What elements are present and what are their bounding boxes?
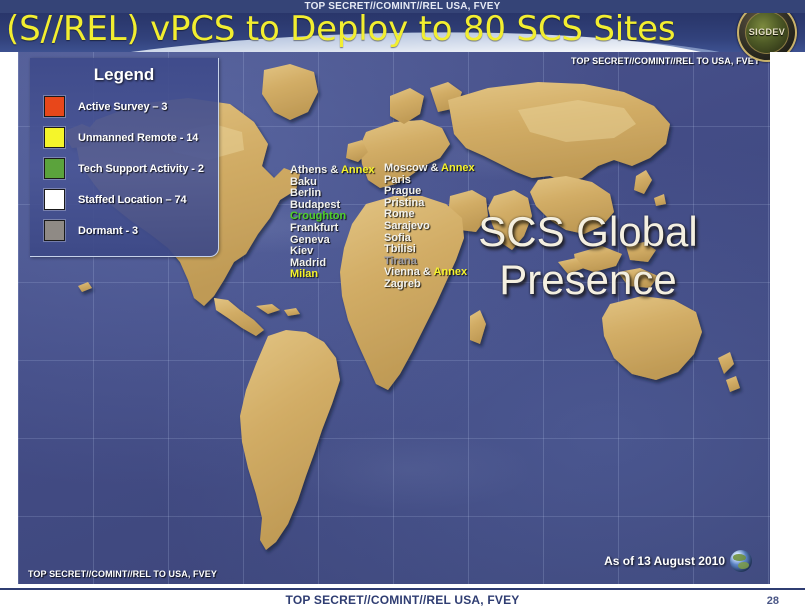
legend-swatch — [44, 220, 65, 241]
legend-swatch — [44, 158, 65, 179]
legend-item-label: Unmanned Remote - 14 — [78, 132, 198, 144]
city-entry: Athens & Annex — [290, 165, 375, 177]
city-annex-label: Annex — [341, 164, 375, 176]
legend-item: Unmanned Remote - 14 — [30, 122, 218, 153]
map-center-title-line2: Presence — [438, 256, 738, 304]
city-entry: Moscow & Annex — [384, 163, 475, 175]
footer-classification: TOP SECRET//COMINT//REL USA, FVEY — [0, 593, 805, 607]
as-of-text: As of 13 August 2010 — [604, 554, 725, 568]
footer-divider — [0, 588, 805, 590]
world-map: TOP SECRET//COMINT//REL TO USA, FVEY TOP… — [18, 48, 770, 588]
legend-item-label: Tech Support Activity - 2 — [78, 163, 204, 175]
legend-item-label: Active Survey – 3 — [78, 101, 167, 113]
slide: TOP SECRET//COMINT//REL USA, FVEY (S//RE… — [0, 0, 805, 614]
legend-swatch — [44, 127, 65, 148]
legend-item-list: Active Survey – 3Unmanned Remote - 14Tec… — [30, 91, 218, 246]
legend-panel: Legend Active Survey – 3Unmanned Remote … — [30, 58, 219, 257]
map-center-title-line1: SCS Global — [478, 208, 697, 255]
page-title: (S//REL) vPCS to Deploy to 80 SCS Sites — [6, 9, 675, 49]
legend-item-label: Staffed Location – 74 — [78, 194, 187, 206]
city-annex-label: Annex — [441, 162, 475, 174]
globe-icon — [730, 550, 752, 572]
page-number: 28 — [767, 595, 779, 607]
legend-item: Active Survey – 3 — [30, 91, 218, 122]
as-of-stamp: As of 13 August 2010 — [604, 550, 752, 572]
right-margin — [770, 52, 805, 588]
top-classification-banner: TOP SECRET//COMINT//REL USA, FVEY — [0, 0, 805, 13]
legend-item: Tech Support Activity - 2 — [30, 153, 218, 184]
legend-item: Dormant - 3 — [30, 215, 218, 246]
legend-title: Legend — [30, 65, 218, 85]
city-entry: Kiev — [290, 246, 375, 258]
map-center-title: SCS Global Presence — [438, 208, 738, 304]
city-entry: Milan — [290, 269, 375, 281]
city-list-left: Athens & AnnexBakuBerlinBudapestCroughto… — [290, 165, 375, 281]
legend-item: Staffed Location – 74 — [30, 184, 218, 215]
map-classification-bottom-left: TOP SECRET//COMINT//REL TO USA, FVEY — [28, 569, 217, 579]
seal-label: SIGDEV — [739, 27, 795, 37]
legend-swatch — [44, 189, 65, 210]
left-margin — [0, 52, 18, 588]
city-entry: Frankfurt — [290, 223, 375, 235]
legend-item-label: Dormant - 3 — [78, 225, 138, 237]
legend-swatch — [44, 96, 65, 117]
slide-footer: TOP SECRET//COMINT//REL USA, FVEY 28 — [0, 588, 805, 614]
